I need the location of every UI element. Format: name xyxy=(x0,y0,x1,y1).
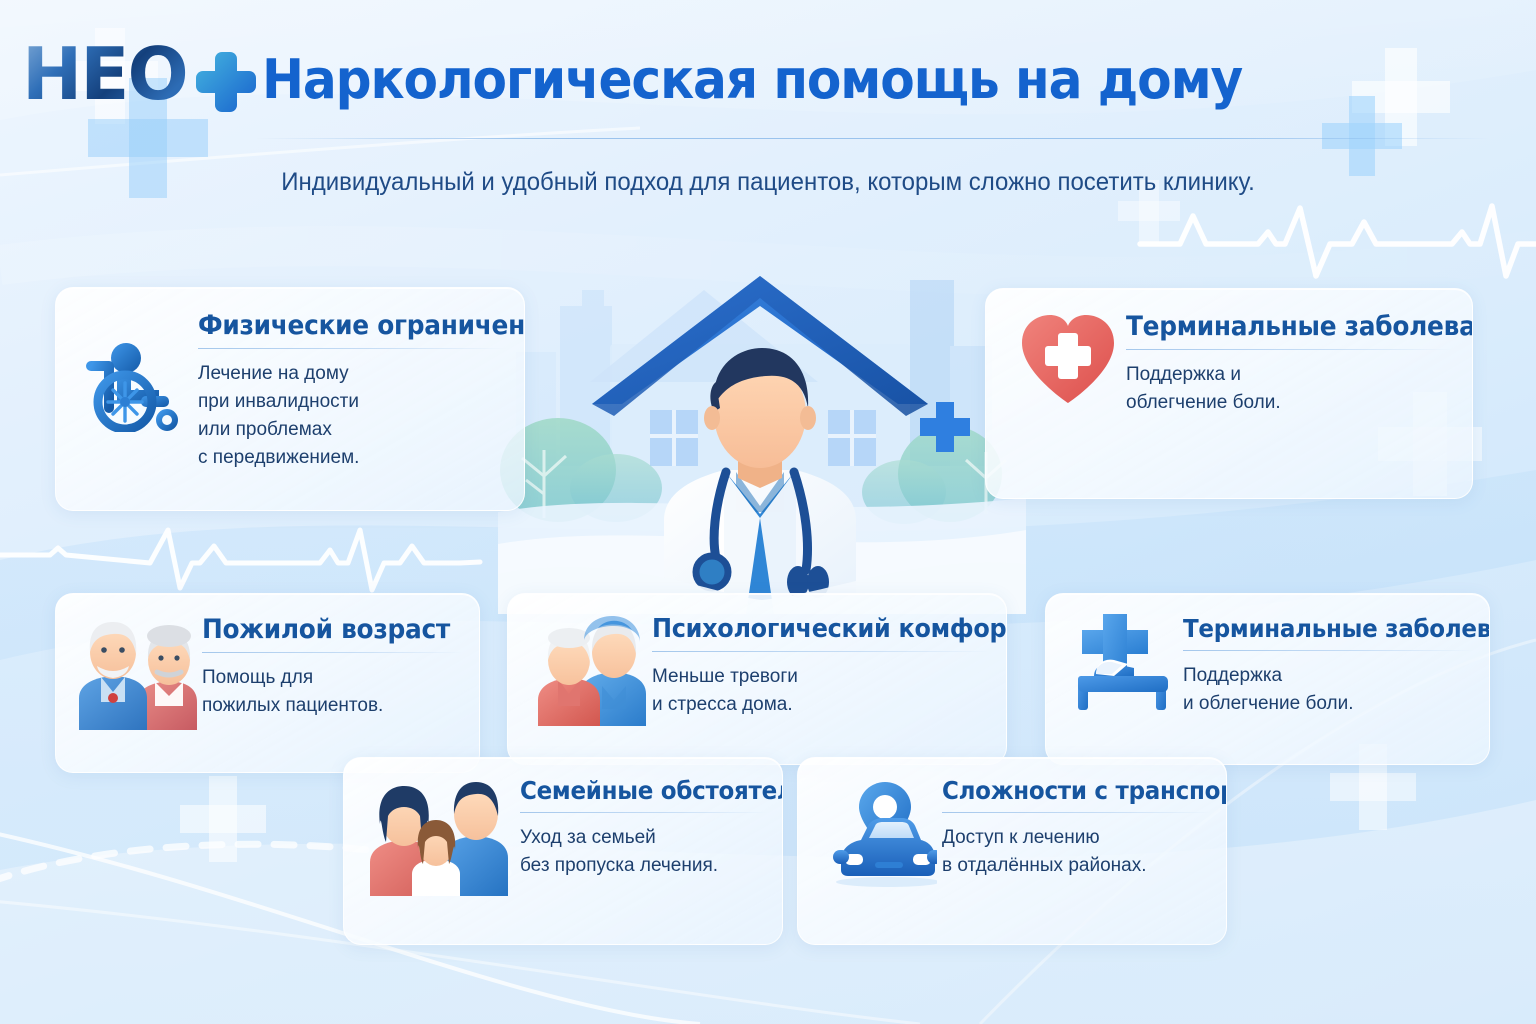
card-terminal-illness-bed[interactable]: Терминальные заболевания Поддержка и обл… xyxy=(1045,593,1490,765)
doctor-in-front-of-house-illustration xyxy=(498,262,1026,614)
page-title: Наркологическая помощь на дому xyxy=(262,48,1242,111)
card-title: Терминальные заболевания xyxy=(1183,614,1452,643)
infographic-canvas: НЕО Наркологическая помощь на дому Индив… xyxy=(0,0,1536,1024)
family-of-three-icon xyxy=(362,776,520,944)
page-subtitle: Индивидуальный и удобный подход для паци… xyxy=(31,164,1506,200)
card-title: Психологический комфорт xyxy=(652,614,963,644)
card-title: Пожилой возраст xyxy=(202,614,442,645)
card-divider xyxy=(520,812,768,813)
card-title: Терминальные заболевания xyxy=(1126,311,1428,342)
card-psychological-comfort[interactable]: Психологический комфорт Меньше тревоги и… xyxy=(507,593,1007,765)
card-terminal-illness-heart[interactable]: Терминальные заболевания Поддержка и обл… xyxy=(985,288,1473,499)
card-description: Лечение на дому при инвалидности или про… xyxy=(198,360,506,472)
card-divider xyxy=(1183,650,1475,651)
elderly-couple-icon xyxy=(74,614,202,772)
heart-with-cross-icon xyxy=(1010,311,1126,498)
card-description: Поддержка и облегчение боли. xyxy=(1183,662,1475,718)
brand-logo-text: НЕО xyxy=(22,38,187,110)
card-divider xyxy=(198,348,506,349)
card-description: Меньше тревоги и стресса дома. xyxy=(652,663,990,719)
card-description: Поддержка и облегчение боли. xyxy=(1126,361,1454,417)
card-description: Уход за семьей без пропуска лечения. xyxy=(520,824,768,880)
card-description: Доступ к лечению в отдалённых районах. xyxy=(942,824,1212,880)
wheelchair-icon xyxy=(76,310,198,510)
card-family-circumstances[interactable]: Семейные обстоятельства Уход за семьей б… xyxy=(343,757,783,945)
two-people-icon xyxy=(532,614,652,764)
card-description: Помощь для пожилых пациентов. xyxy=(202,664,463,720)
medical-plus-icon xyxy=(196,52,256,112)
card-title: Семейные обстоятельства xyxy=(520,776,748,805)
title-divider xyxy=(255,138,1490,139)
card-divider xyxy=(652,651,990,652)
hospital-bed-with-cross-icon xyxy=(1066,614,1183,764)
card-elderly-age[interactable]: Пожилой возраст Помощь для пожилых пацие… xyxy=(55,593,480,773)
card-title: Физические ограничения xyxy=(198,310,481,341)
card-physical-limitations[interactable]: Физические ограничения Лечение на дому п… xyxy=(55,287,525,511)
card-divider xyxy=(1126,349,1454,350)
brand-logo: НЕО xyxy=(22,38,187,110)
car-with-location-pin-icon xyxy=(814,776,942,944)
card-title: Сложности с транспортом xyxy=(942,776,1190,805)
card-divider xyxy=(202,652,463,653)
card-divider xyxy=(942,812,1212,813)
page-header: НЕО Наркологическая помощь на дому Индив… xyxy=(0,0,1536,150)
card-transport-difficulties[interactable]: Сложности с транспортом Доступ к лечению… xyxy=(797,757,1227,945)
